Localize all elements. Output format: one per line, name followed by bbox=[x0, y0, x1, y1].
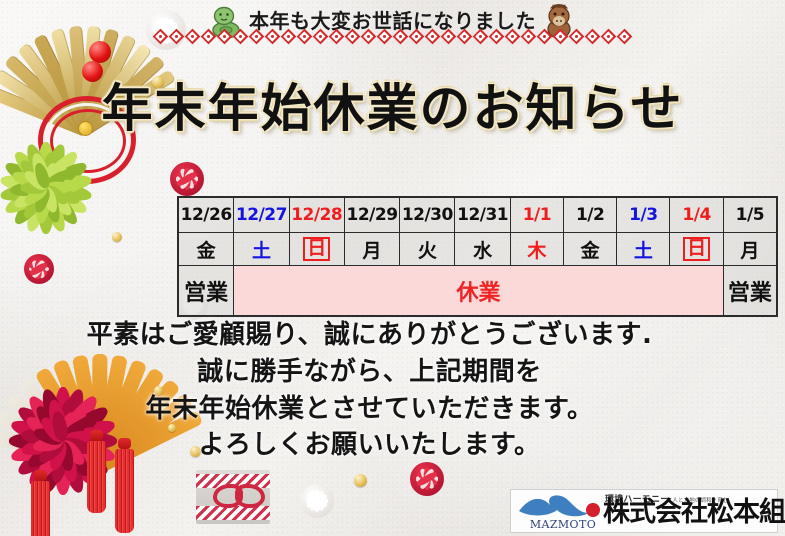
gold-pearl-decoration bbox=[354, 474, 367, 487]
company-logo: MAZMOTO 環境ハーモニー 人と大地の調和を育む 株式会社松本組 bbox=[510, 489, 778, 533]
knot-strand bbox=[313, 490, 320, 512]
diamond-motif bbox=[553, 29, 568, 44]
flower-petal bbox=[32, 162, 52, 190]
weekday-label: 木 bbox=[525, 236, 548, 263]
company-name: 株式会社松本組 bbox=[603, 499, 785, 526]
flower-petal bbox=[46, 179, 83, 195]
date-cell: 12/26 bbox=[178, 197, 234, 233]
weekday-cell: 土 bbox=[234, 233, 289, 266]
notice-line: 平素はご愛顧賜り、誠にありがとうございます. bbox=[0, 318, 739, 353]
diamond-motif bbox=[281, 29, 296, 44]
table-row-weekdays: 金土日月火水木金土日月 bbox=[178, 233, 777, 266]
diamond-motif bbox=[457, 29, 472, 44]
flower-petal bbox=[40, 148, 82, 194]
weekday-cell: 水 bbox=[455, 233, 510, 266]
date-cell: 12/30 bbox=[400, 197, 455, 233]
mizuhiki-knot-decoration bbox=[410, 462, 444, 496]
flower-petal bbox=[39, 151, 59, 189]
knot-strand bbox=[423, 468, 430, 490]
gold-pearl-decoration bbox=[112, 232, 122, 242]
weekday-label: 金 bbox=[195, 236, 218, 263]
notice-line: 誠に勝手ながら、上記期間を bbox=[0, 355, 739, 390]
new-year-holiday-notice-poster: 本年も大変お世話になりました 年末年始休業のお知らせ bbox=[0, 0, 785, 536]
weekday-label: 水 bbox=[471, 236, 494, 263]
flower-petal bbox=[40, 183, 82, 229]
diamond-motif bbox=[521, 29, 536, 44]
diamond-motif bbox=[489, 29, 504, 44]
knot-strand bbox=[29, 261, 49, 276]
diamond-motif bbox=[345, 29, 360, 44]
diamond-motif bbox=[393, 29, 408, 44]
flower-petal bbox=[42, 183, 70, 208]
diamond-motif bbox=[249, 29, 264, 44]
status-cell-open: 営業 bbox=[723, 266, 777, 317]
diamond-motif bbox=[505, 29, 520, 44]
flower-petal bbox=[20, 182, 46, 194]
date-cell: 12/28 bbox=[289, 197, 344, 233]
flower-petal bbox=[22, 183, 50, 208]
flower-petal bbox=[22, 168, 50, 193]
knot-strand bbox=[306, 492, 329, 509]
date-cell: 1/4 bbox=[670, 197, 723, 233]
diamond-motif bbox=[617, 29, 632, 44]
weekday-label: 土 bbox=[632, 236, 655, 263]
flower-petal bbox=[45, 180, 93, 204]
mazmoto-wave-mark-icon: MAZMOTO bbox=[517, 491, 603, 531]
knot-strand bbox=[416, 470, 439, 487]
diamond-motif bbox=[169, 29, 184, 44]
knot-strand bbox=[306, 492, 329, 509]
flower-petal bbox=[0, 172, 47, 196]
flower-petal bbox=[17, 157, 52, 193]
diamond-motif bbox=[377, 29, 392, 44]
weekday-cell: 木 bbox=[510, 233, 563, 266]
knot-strand bbox=[308, 490, 325, 513]
diamond-motif bbox=[233, 29, 248, 44]
date-cell: 12/29 bbox=[344, 197, 399, 233]
knot-strand bbox=[176, 170, 199, 187]
diamond-motif bbox=[217, 29, 232, 44]
page-title: 年末年始休業のお知らせ bbox=[0, 84, 785, 135]
diamond-motif bbox=[153, 29, 168, 44]
mizuhiki-knot-decoration bbox=[170, 162, 204, 196]
diamond-motif bbox=[313, 29, 328, 44]
knot-strand bbox=[416, 470, 439, 487]
knot-strand bbox=[178, 168, 195, 191]
flower-petal bbox=[10, 148, 52, 194]
weekday-label: 日 bbox=[303, 237, 330, 260]
knot-strand bbox=[36, 259, 43, 278]
gift-box-decoration bbox=[196, 470, 270, 524]
diamond-motif bbox=[537, 29, 552, 44]
weekday-label: 土 bbox=[250, 236, 273, 263]
weekday-cell: 日 bbox=[289, 233, 344, 266]
knot-strand bbox=[176, 175, 198, 182]
banner: 本年も大変お世話になりました bbox=[0, 0, 785, 46]
flower-petal bbox=[39, 186, 63, 224]
flower-petal bbox=[20, 184, 52, 222]
green-chrysanthemum-decoration bbox=[0, 138, 104, 238]
flower-petal bbox=[40, 162, 60, 190]
knot-strand bbox=[183, 168, 190, 190]
weekday-cell: 日 bbox=[670, 233, 723, 266]
table-row-dates: 12/2612/2712/2812/2912/3012/311/11/21/31… bbox=[178, 197, 777, 233]
flower-petal bbox=[40, 186, 60, 214]
red-tassel-decoration bbox=[34, 470, 50, 536]
date-cell: 1/5 bbox=[723, 197, 777, 233]
knot-strand bbox=[31, 259, 46, 279]
flower-petal bbox=[46, 182, 72, 194]
notice-line: よろしくお願いいたします。 bbox=[0, 428, 739, 463]
diamond-motif bbox=[585, 29, 600, 44]
weekday-label: 日 bbox=[683, 237, 710, 260]
weekday-cell: 火 bbox=[400, 233, 455, 266]
weekday-cell: 月 bbox=[344, 233, 399, 266]
weekday-label: 金 bbox=[579, 236, 602, 263]
knot-strand bbox=[178, 168, 195, 191]
flower-petal bbox=[29, 152, 53, 190]
weekday-cell: 金 bbox=[564, 233, 617, 266]
diamond-motif bbox=[201, 29, 216, 44]
diamond-motif bbox=[569, 29, 584, 44]
weekday-cell: 土 bbox=[617, 233, 670, 266]
flower-petal bbox=[10, 168, 49, 194]
flower-petal bbox=[38, 142, 69, 191]
flower-petal bbox=[41, 183, 76, 219]
notice-line: 年末年始休業とさせていただきます。 bbox=[0, 392, 739, 427]
mizuhiki-knot-decoration bbox=[300, 484, 334, 518]
flower-petal bbox=[2, 181, 50, 218]
weekday-cell: 金 bbox=[178, 233, 234, 266]
knot-strand bbox=[29, 261, 49, 276]
knot-strand bbox=[31, 259, 46, 279]
knot-strand bbox=[416, 475, 438, 482]
knot-strand bbox=[418, 468, 435, 491]
table-row-status: 営業休業営業 bbox=[178, 266, 777, 317]
flower-petal bbox=[0, 180, 47, 204]
flower-petal bbox=[32, 186, 52, 214]
flower-petal bbox=[33, 187, 53, 225]
holiday-schedule-table: 12/2612/2712/2812/2912/3012/311/11/21/31… bbox=[177, 196, 778, 317]
mizuhiki-knot-decoration bbox=[24, 254, 54, 284]
flower-petal bbox=[42, 181, 90, 218]
flower-petal bbox=[23, 185, 54, 234]
flower-petal bbox=[42, 158, 90, 195]
flower-petal bbox=[40, 155, 72, 193]
date-cell: 12/31 bbox=[455, 197, 510, 233]
date-cell: 1/2 bbox=[564, 197, 617, 233]
flower-petal bbox=[23, 142, 54, 191]
knot-strand bbox=[308, 490, 325, 513]
flower-petal bbox=[2, 158, 50, 195]
status-cell-open: 営業 bbox=[178, 266, 234, 317]
flower-petal bbox=[43, 164, 81, 194]
date-cell: 1/3 bbox=[617, 197, 670, 233]
red-berry-decoration bbox=[82, 61, 103, 82]
flower-petal bbox=[43, 181, 82, 207]
diamond-motif bbox=[409, 29, 424, 44]
knot-strand bbox=[176, 170, 199, 187]
flower-petal bbox=[45, 172, 93, 196]
flower-petal bbox=[38, 188, 54, 234]
flower-petal bbox=[38, 185, 69, 234]
flower-petal bbox=[11, 182, 49, 212]
diamond-motif bbox=[473, 29, 488, 44]
diamond-motif bbox=[297, 29, 312, 44]
diamond-pattern-border bbox=[153, 29, 632, 44]
knot-strand bbox=[29, 266, 48, 273]
diamond-motif bbox=[185, 29, 200, 44]
flower-petal bbox=[38, 142, 54, 188]
diamond-motif bbox=[601, 29, 616, 44]
flower-petal bbox=[10, 181, 47, 197]
diamond-motif bbox=[425, 29, 440, 44]
date-cell: 12/27 bbox=[234, 197, 289, 233]
diamond-motif bbox=[265, 29, 280, 44]
weekday-cell: 月 bbox=[723, 233, 777, 266]
weekday-label: 月 bbox=[738, 236, 761, 263]
diamond-motif bbox=[329, 29, 344, 44]
status-cell-closed: 休業 bbox=[234, 266, 723, 317]
flower-petal bbox=[10, 183, 52, 229]
notice-body: 平素はご愛顧賜り、誠にありがとうございます.誠に勝手ながら、上記期間を年末年始休… bbox=[0, 318, 785, 465]
flower-petal bbox=[42, 168, 70, 193]
weekday-label: 火 bbox=[416, 236, 439, 263]
weekday-label: 月 bbox=[361, 236, 384, 263]
knot-strand bbox=[418, 468, 435, 491]
date-cell: 1/1 bbox=[510, 197, 563, 233]
logo-romaji-text: MAZMOTO bbox=[523, 518, 603, 531]
knot-strand bbox=[306, 497, 328, 504]
diamond-motif bbox=[361, 29, 376, 44]
diamond-motif bbox=[441, 29, 456, 44]
